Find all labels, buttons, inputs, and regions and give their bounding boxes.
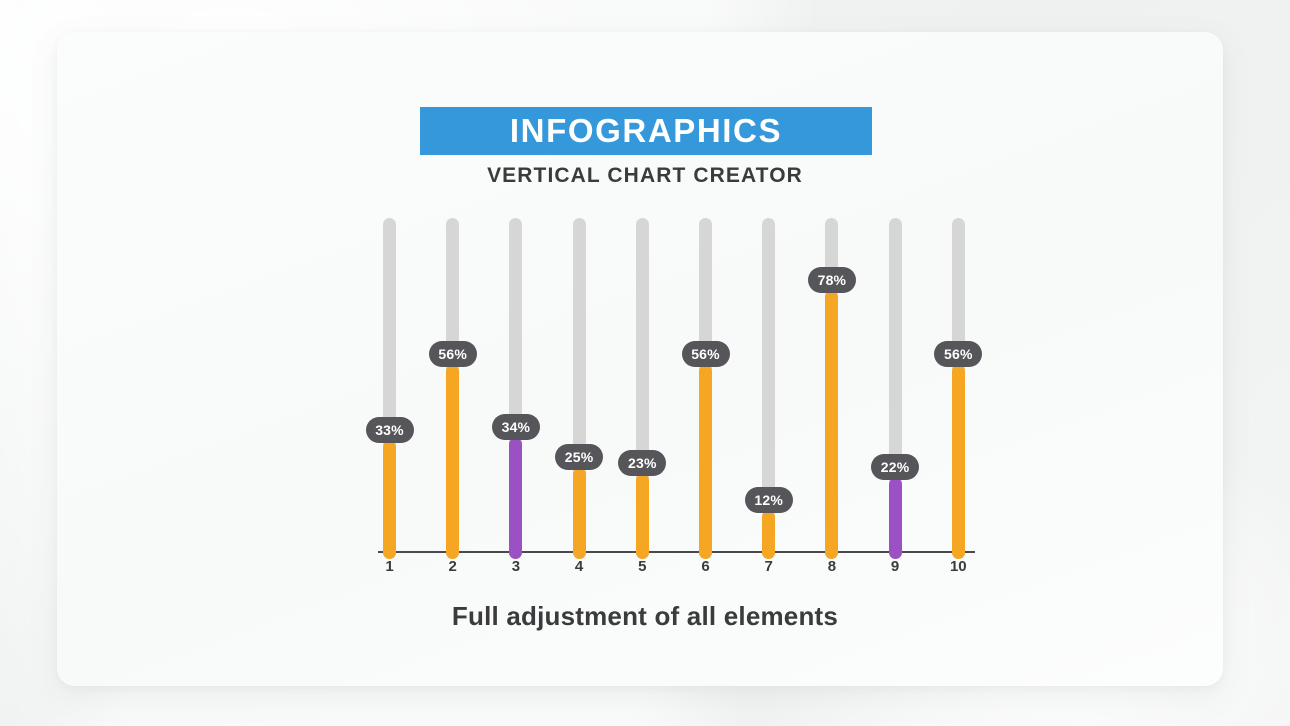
bar-fill[interactable] [636,474,649,559]
bar-value-label: 12% [745,487,793,513]
x-axis-tick-label: 8 [812,558,852,575]
x-axis-tick-label: 5 [622,558,662,575]
bar-fill[interactable] [699,365,712,559]
x-axis-tick-label: 6 [686,558,726,575]
x-axis-tick-label: 4 [559,558,599,575]
bar-value-label: 25% [555,444,603,470]
bar-value-label: 33% [366,417,414,443]
bar-fill[interactable] [762,511,775,559]
bar-value-label: 23% [618,450,666,476]
bar-value-label: 34% [492,414,540,440]
bar-fill[interactable] [825,291,838,559]
x-axis-tick-label: 2 [433,558,473,575]
x-axis-tick-label: 3 [496,558,536,575]
bar-fill[interactable] [446,365,459,559]
x-axis-tick-label: 1 [370,558,410,575]
bar-value-label: 56% [934,341,982,367]
bar-fill[interactable] [952,365,965,559]
x-axis-tick-label: 10 [938,558,978,575]
bar-fill[interactable] [573,468,586,559]
bar-fill[interactable] [889,478,902,559]
bar-value-label: 56% [682,341,730,367]
x-axis-tick-label: 7 [749,558,789,575]
bar-fill[interactable] [509,438,522,559]
bar-value-label: 22% [871,454,919,480]
x-axis-line [378,551,975,553]
x-axis-tick-label: 9 [875,558,915,575]
bar-value-label: 56% [429,341,477,367]
bar-fill[interactable] [383,441,396,559]
bar-value-label: 78% [808,267,856,293]
chart-caption: Full adjustment of all elements [0,601,1290,632]
